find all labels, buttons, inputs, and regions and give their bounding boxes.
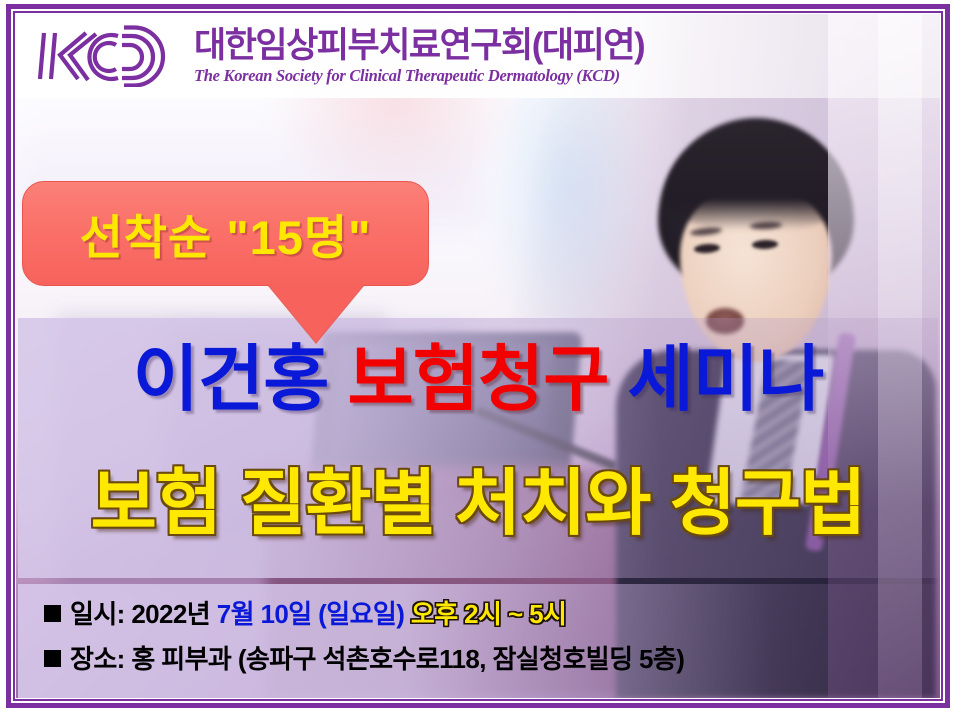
seminar-title-line1: 이건홍 보험청구 세미나 <box>18 344 938 416</box>
place-label: 장소: <box>70 644 125 674</box>
date-time: 오후 2시 ~ 5시 <box>404 599 566 629</box>
date-label: 일시: <box>70 599 125 629</box>
capacity-text: 선착순 "15명" <box>80 199 372 268</box>
capacity-callout: 선착순 "15명" <box>22 181 429 286</box>
society-name-block: 대한임상피부치료연구회(대피연) The Korean Society for … <box>194 28 644 85</box>
bullet-square-icon <box>44 650 61 667</box>
date-year: 2022년 <box>125 599 217 629</box>
date-highlight: 7월 10일 (일요일) <box>217 599 405 629</box>
place-value: 홍 피부과 (송파구 석촌호수로118, 잠실청호빌딩 5층) <box>125 644 685 674</box>
seminar-subtitle: 보험 질환별 처치와 청구법 <box>18 468 938 540</box>
capacity-bubble: 선착순 "15명" <box>22 181 429 286</box>
bullet-square-icon <box>44 605 61 622</box>
event-date-row: 일시: 2022년 7월 10일 (일요일) 오후 2시 ~ 5시 <box>44 601 938 627</box>
title-band: 이건홍 보험청구 세미나 보험 질환별 처치와 청구법 <box>18 318 938 578</box>
event-place-row: 장소: 홍 피부과 (송파구 석촌호수로118, 잠실청호빌딩 5층) <box>44 646 938 672</box>
seminar-poster: 대한임상피부치료연구회(대피연) The Korean Society for … <box>0 0 960 720</box>
title-speaker-name: 이건홍 <box>133 340 348 420</box>
title-seminar-word: 세미나 <box>608 340 823 420</box>
kcd-logo-icon <box>30 25 180 87</box>
event-info-panel: 일시: 2022년 7월 10일 (일요일) 오후 2시 ~ 5시 장소: 홍 … <box>18 584 938 698</box>
title-topic: 보험청구 <box>348 340 609 420</box>
callout-tail-icon <box>268 284 364 342</box>
poster-header: 대한임상피부치료연구회(대피연) The Korean Society for … <box>16 14 940 98</box>
society-name-ko: 대한임상피부치료연구회(대피연) <box>194 28 644 63</box>
society-name-en: The Korean Society for Clinical Therapeu… <box>194 68 644 85</box>
